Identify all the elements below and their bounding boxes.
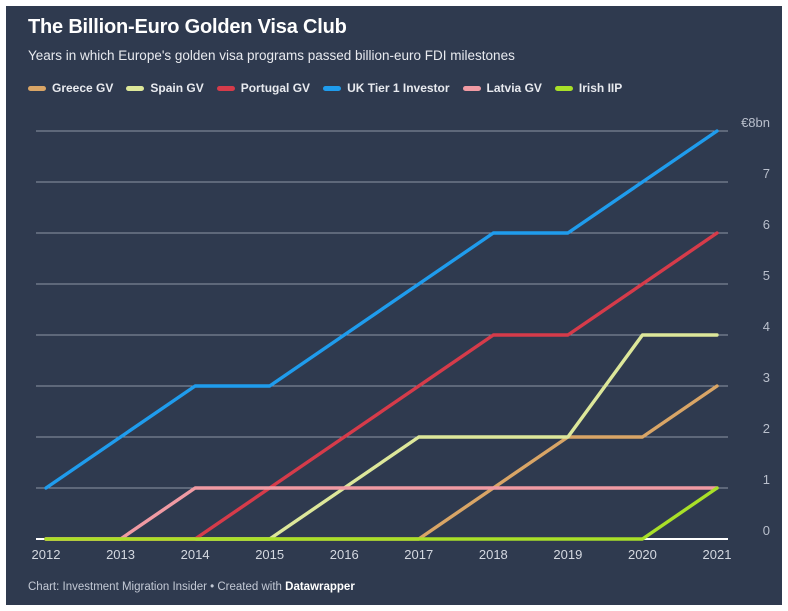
chart-legend: Greece GVSpain GVPortugal GVUK Tier 1 In… <box>28 81 622 95</box>
legend-swatch-icon <box>126 86 144 91</box>
legend-item[interactable]: Latvia GV <box>463 81 542 95</box>
series-line[interactable] <box>46 488 717 539</box>
x-axis-tick-label: 2021 <box>687 547 747 562</box>
legend-swatch-icon <box>323 86 341 91</box>
y-axis-tick-label: 6 <box>732 217 770 232</box>
x-axis-tick-label: 2015 <box>240 547 300 562</box>
y-axis-tick-label: 2 <box>732 421 770 436</box>
series-line[interactable] <box>46 131 717 488</box>
chart-container: The Billion-Euro Golden Visa Club Years … <box>6 6 782 605</box>
x-axis-tick-label: 2014 <box>165 547 225 562</box>
x-axis-tick-label: 2012 <box>16 547 76 562</box>
chart-subtitle: Years in which Europe's golden visa prog… <box>28 48 515 63</box>
legend-swatch-icon <box>28 86 46 91</box>
legend-swatch-icon <box>555 86 573 91</box>
plot-area: 01234567€8bn <box>6 111 782 551</box>
footer-source: Datawrapper <box>285 581 355 593</box>
y-axis-tick-label: 3 <box>732 370 770 385</box>
y-axis-tick-label: 0 <box>732 523 770 538</box>
y-axis-tick-label: 1 <box>732 472 770 487</box>
legend-item[interactable]: Greece GV <box>28 81 113 95</box>
x-axis-tick-label: 2017 <box>389 547 449 562</box>
y-axis-tick-label: €8bn <box>732 115 770 130</box>
legend-label: Spain GV <box>150 81 203 95</box>
legend-label: Latvia GV <box>487 81 542 95</box>
legend-item[interactable]: Irish IIP <box>555 81 622 95</box>
legend-item[interactable]: Spain GV <box>126 81 203 95</box>
series-line[interactable] <box>46 488 717 539</box>
x-axis-tick-label: 2018 <box>463 547 523 562</box>
legend-item[interactable]: Portugal GV <box>217 81 310 95</box>
y-axis-tick-label: 7 <box>732 166 770 181</box>
chart-footer: Chart: Investment Migration Insider • Cr… <box>28 581 355 593</box>
y-axis-tick-label: 4 <box>732 319 770 334</box>
footer-credit: Chart: Investment Migration Insider • Cr… <box>28 581 285 593</box>
legend-swatch-icon <box>217 86 235 91</box>
legend-label: UK Tier 1 Investor <box>347 81 449 95</box>
chart-title: The Billion-Euro Golden Visa Club <box>28 16 347 39</box>
legend-item[interactable]: UK Tier 1 Investor <box>323 81 449 95</box>
legend-label: Greece GV <box>52 81 113 95</box>
legend-swatch-icon <box>463 86 481 91</box>
legend-label: Portugal GV <box>241 81 310 95</box>
x-axis-tick-label: 2013 <box>91 547 151 562</box>
legend-label: Irish IIP <box>579 81 622 95</box>
y-axis-tick-label: 5 <box>732 268 770 283</box>
plot-svg <box>6 111 782 551</box>
x-axis-tick-label: 2016 <box>314 547 374 562</box>
x-axis-tick-label: 2020 <box>612 547 672 562</box>
x-axis-tick-label: 2019 <box>538 547 598 562</box>
